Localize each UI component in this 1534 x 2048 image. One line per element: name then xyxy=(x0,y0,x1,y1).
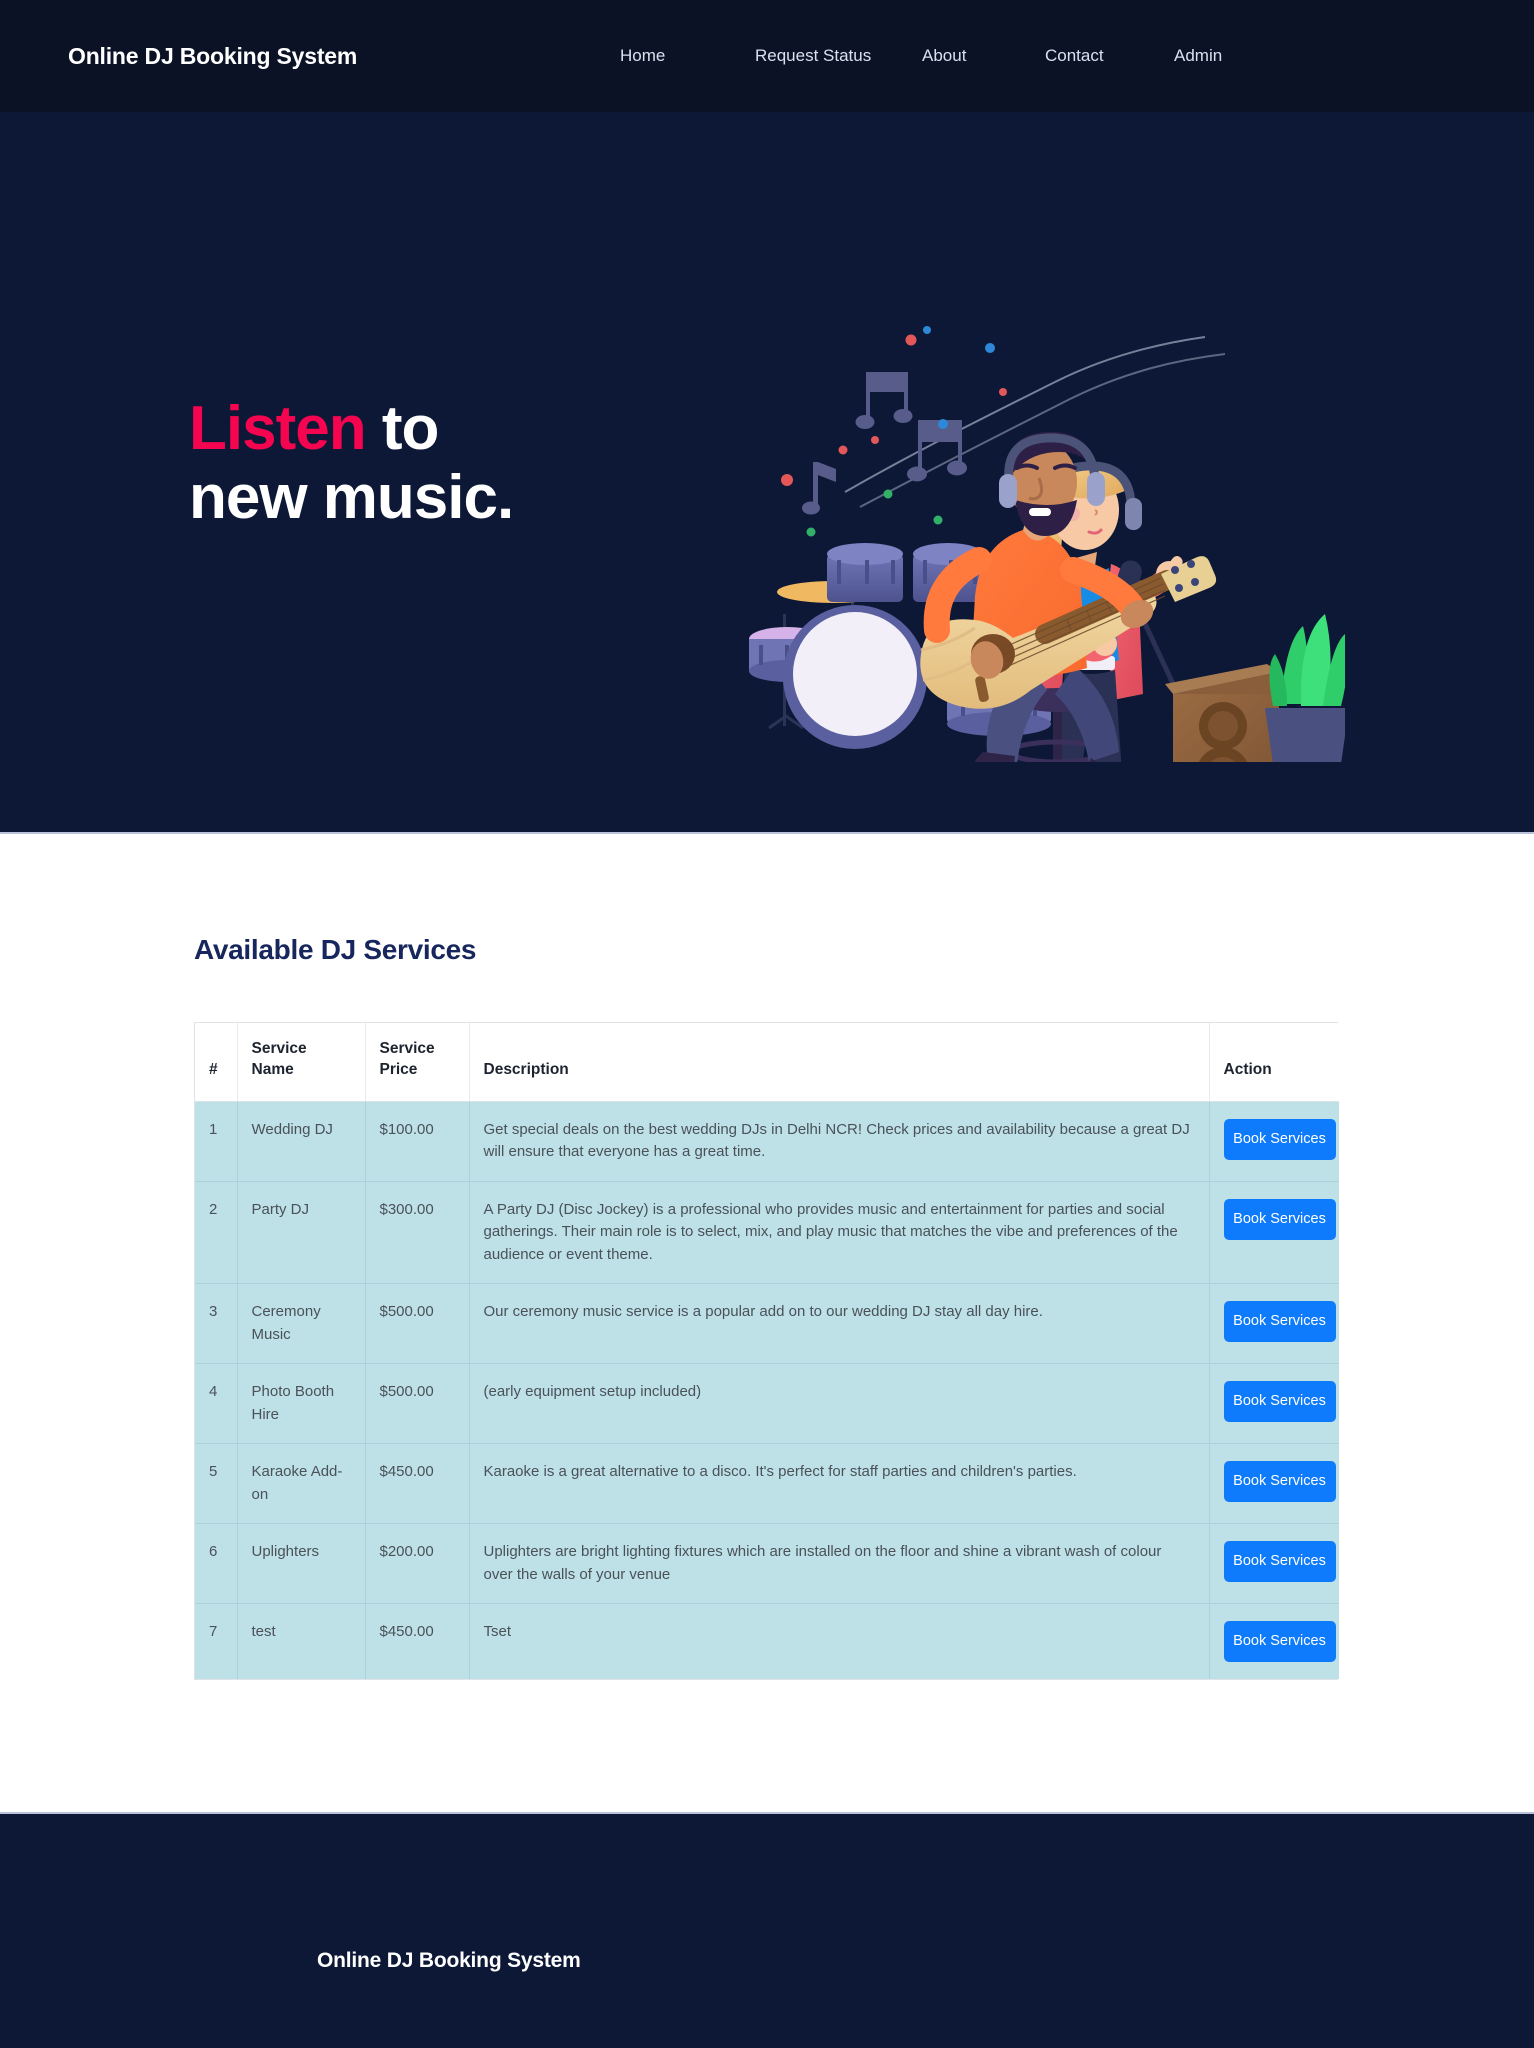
cell-service-name: Photo Booth Hire xyxy=(237,1364,365,1444)
cell-description: Tset xyxy=(469,1604,1209,1679)
table-row: 1 Wedding DJ $100.00 Get special deals o… xyxy=(195,1101,1339,1181)
footer-brand-title: Online DJ Booking System xyxy=(317,1949,581,1973)
cell-service-name: test xyxy=(237,1604,365,1679)
table-row: 5 Karaoke Add-on $450.00 Karaoke is a gr… xyxy=(195,1444,1339,1524)
cell-action: Book Services xyxy=(1209,1284,1339,1364)
nav-link-contact[interactable]: Contact xyxy=(1045,46,1174,66)
cell-description: Karaoke is a great alternative to a disc… xyxy=(469,1444,1209,1524)
primary-nav: Home Request Status About Contact Admin xyxy=(620,46,1284,66)
cell-service-price: $300.00 xyxy=(365,1181,469,1284)
services-table-wrapper: # Service Name Service Price Description… xyxy=(194,1022,1338,1680)
cell-service-name: Wedding DJ xyxy=(237,1101,365,1181)
book-services-button[interactable]: Book Services xyxy=(1224,1119,1336,1160)
services-table-body: 1 Wedding DJ $100.00 Get special deals o… xyxy=(195,1101,1339,1679)
cell-action: Book Services xyxy=(1209,1181,1339,1284)
services-section: Available DJ Services # Service Name Ser… xyxy=(0,834,1534,1680)
services-table: # Service Name Service Price Description… xyxy=(195,1023,1339,1679)
column-header-action: Action xyxy=(1209,1023,1339,1101)
cell-action: Book Services xyxy=(1209,1524,1339,1604)
cell-service-name: Ceremony Music xyxy=(237,1284,365,1364)
top-navbar: Online DJ Booking System Home Request St… xyxy=(0,0,1534,112)
column-header-service-price: Service Price xyxy=(365,1023,469,1101)
table-row: 3 Ceremony Music $500.00 Our ceremony mu… xyxy=(195,1284,1339,1364)
cell-action: Book Services xyxy=(1209,1444,1339,1524)
table-row: 4 Photo Booth Hire $500.00 (early equipm… xyxy=(195,1364,1339,1444)
book-services-button[interactable]: Book Services xyxy=(1224,1199,1336,1240)
cell-number: 2 xyxy=(195,1181,237,1284)
potted-plant-icon xyxy=(1265,614,1345,762)
hero-heading-line-1: Listen to xyxy=(189,394,513,463)
book-services-button[interactable]: Book Services xyxy=(1224,1541,1336,1582)
cell-number: 3 xyxy=(195,1284,237,1364)
brand-title[interactable]: Online DJ Booking System xyxy=(68,43,357,70)
services-table-head: # Service Name Service Price Description… xyxy=(195,1023,1339,1101)
cell-number: 7 xyxy=(195,1604,237,1679)
cell-action: Book Services xyxy=(1209,1604,1339,1679)
book-services-button[interactable]: Book Services xyxy=(1224,1381,1336,1422)
hero-heading-line-1-rest: to xyxy=(366,394,439,463)
cell-description: Uplighters are bright lighting fixtures … xyxy=(469,1524,1209,1604)
nav-link-request-status[interactable]: Request Status xyxy=(755,46,922,66)
cell-description: Get special deals on the best wedding DJ… xyxy=(469,1101,1209,1181)
bass-drum xyxy=(783,605,927,749)
cell-number: 1 xyxy=(195,1101,237,1181)
column-header-service-name: Service Name xyxy=(237,1023,365,1101)
nav-link-about[interactable]: About xyxy=(922,46,1045,66)
cell-description: A Party DJ (Disc Jockey) is a profession… xyxy=(469,1181,1209,1284)
table-row: 6 Uplighters $200.00 Uplighters are brig… xyxy=(195,1524,1339,1604)
cell-service-price: $100.00 xyxy=(365,1101,469,1181)
cell-service-name: Party DJ xyxy=(237,1181,365,1284)
cell-description: (early equipment setup included) xyxy=(469,1364,1209,1444)
cell-service-price: $500.00 xyxy=(365,1284,469,1364)
page-title: Available DJ Services xyxy=(194,934,1534,966)
cell-service-price: $450.00 xyxy=(365,1444,469,1524)
cell-service-name: Karaoke Add-on xyxy=(237,1444,365,1524)
table-row: 2 Party DJ $300.00 A Party DJ (Disc Jock… xyxy=(195,1181,1339,1284)
column-header-number: # xyxy=(195,1023,237,1101)
cell-service-price: $500.00 xyxy=(365,1364,469,1444)
cell-description: Our ceremony music service is a popular … xyxy=(469,1284,1209,1364)
hero-carousel: Listen to new music. xyxy=(0,112,1534,834)
cell-service-price: $450.00 xyxy=(365,1604,469,1679)
cell-action: Book Services xyxy=(1209,1364,1339,1444)
cell-number: 4 xyxy=(195,1364,237,1444)
table-row: 7 test $450.00 Tset Book Services xyxy=(195,1604,1339,1679)
book-services-button[interactable]: Book Services xyxy=(1224,1301,1336,1342)
column-header-description: Description xyxy=(469,1023,1209,1101)
tom-drum-left xyxy=(827,543,903,602)
cell-number: 5 xyxy=(195,1444,237,1524)
page-footer: Online DJ Booking System xyxy=(0,1812,1534,2048)
cell-action: Book Services xyxy=(1209,1101,1339,1181)
nav-link-admin[interactable]: Admin xyxy=(1174,46,1284,66)
musicians-illustration xyxy=(725,302,1345,762)
table-header-row: # Service Name Service Price Description… xyxy=(195,1023,1339,1101)
cell-service-price: $200.00 xyxy=(365,1524,469,1604)
nav-link-home[interactable]: Home xyxy=(620,46,755,66)
speaker-cabinet-icon xyxy=(1165,664,1279,762)
cell-number: 6 xyxy=(195,1524,237,1604)
book-services-button[interactable]: Book Services xyxy=(1224,1621,1336,1662)
hero-heading-line-2: new music. xyxy=(189,463,513,532)
hero-heading: Listen to new music. xyxy=(189,394,513,533)
cell-service-name: Uplighters xyxy=(237,1524,365,1604)
hero-accent-word: Listen xyxy=(189,394,366,463)
book-services-button[interactable]: Book Services xyxy=(1224,1461,1336,1502)
